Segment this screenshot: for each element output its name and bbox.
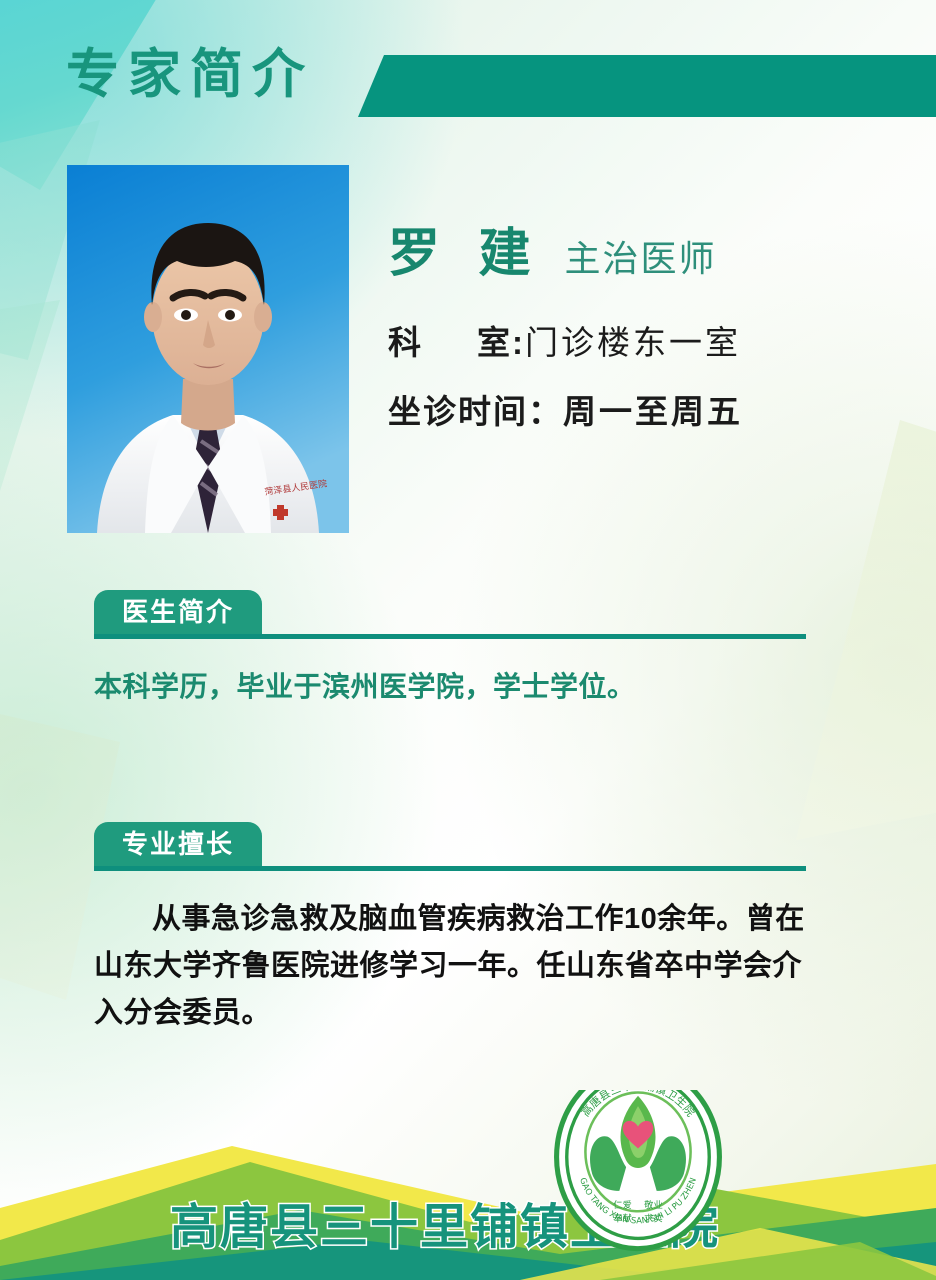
section-header-intro: 医生简介 xyxy=(94,590,806,642)
section-doctor-intro: 医生简介 本科学历，毕业于滨州医学院，学士学位。 xyxy=(94,590,806,710)
page-title: 专家简介 xyxy=(66,48,314,101)
header: 专家简介 xyxy=(0,0,936,150)
department-value: 门诊楼东一室 xyxy=(525,324,741,361)
section-tab-label-specialty: 专业擅长 xyxy=(122,831,234,857)
section-body-intro: 本科学历，毕业于滨州医学院，学士学位。 xyxy=(94,664,806,710)
poster-root: 专家简介 xyxy=(0,0,936,1280)
section-tab-specialty: 专业擅长 xyxy=(94,822,262,866)
section-tab-intro: 医生简介 xyxy=(94,590,262,634)
section-body-specialty: 从事急诊急救及脑血管疾病救治工作10余年。曾在山东大学齐鲁医院进修学习一年。任山… xyxy=(94,896,806,1037)
doctor-meta: 科室:门诊楼东一室 坐诊时间：周一至周五 xyxy=(388,326,908,428)
doctor-portrait-photo: 菏泽县人民医院 xyxy=(67,165,349,533)
decor-polygon-top-left-c xyxy=(0,300,60,560)
footer-brand: 高唐县三十里铺镇卫生院 GAO TANG XIAN SAN SHI LI PU … xyxy=(170,1204,720,1252)
svg-text:奉献 求实: 奉献 求实 xyxy=(613,1212,663,1224)
department-row: 科室:门诊楼东一室 xyxy=(388,326,908,359)
footer: 高唐县三十里铺镇卫生院 GAO TANG XIAN SAN SHI LI PU … xyxy=(0,1090,936,1280)
department-label-tail: 室: xyxy=(477,324,525,361)
decor-polygon-right xyxy=(796,420,936,840)
schedule-value: 周一至周五 xyxy=(563,393,743,430)
doctor-info-block: 罗 建 主治医师 科室:门诊楼东一室 坐诊时间：周一至周五 xyxy=(388,228,908,464)
doctor-name: 罗 建 xyxy=(388,228,542,280)
hospital-seal-logo-icon: 高唐县三十里铺镇卫生院 GAO TANG XIAN SAN SHI LI PU … xyxy=(170,1090,936,1252)
svg-text:仁爱 敬业: 仁爱 敬业 xyxy=(613,1199,663,1211)
doctor-name-row: 罗 建 主治医师 xyxy=(388,228,908,280)
section-rule-specialty xyxy=(94,866,806,871)
section-rule-intro xyxy=(94,634,806,639)
section-tab-label-intro: 医生简介 xyxy=(122,599,234,625)
section-specialty: 专业擅长 从事急诊急救及脑血管疾病救治工作10余年。曾在山东大学齐鲁医院进修学习… xyxy=(94,822,806,1037)
schedule-label: 坐诊时间： xyxy=(388,393,563,430)
section-header-specialty: 专业擅长 xyxy=(94,822,806,874)
schedule-row: 坐诊时间：周一至周五 xyxy=(388,395,908,428)
header-banner-bar xyxy=(358,55,936,117)
doctor-professional-title: 主治医师 xyxy=(564,241,716,277)
department-label: 科 xyxy=(388,324,423,361)
